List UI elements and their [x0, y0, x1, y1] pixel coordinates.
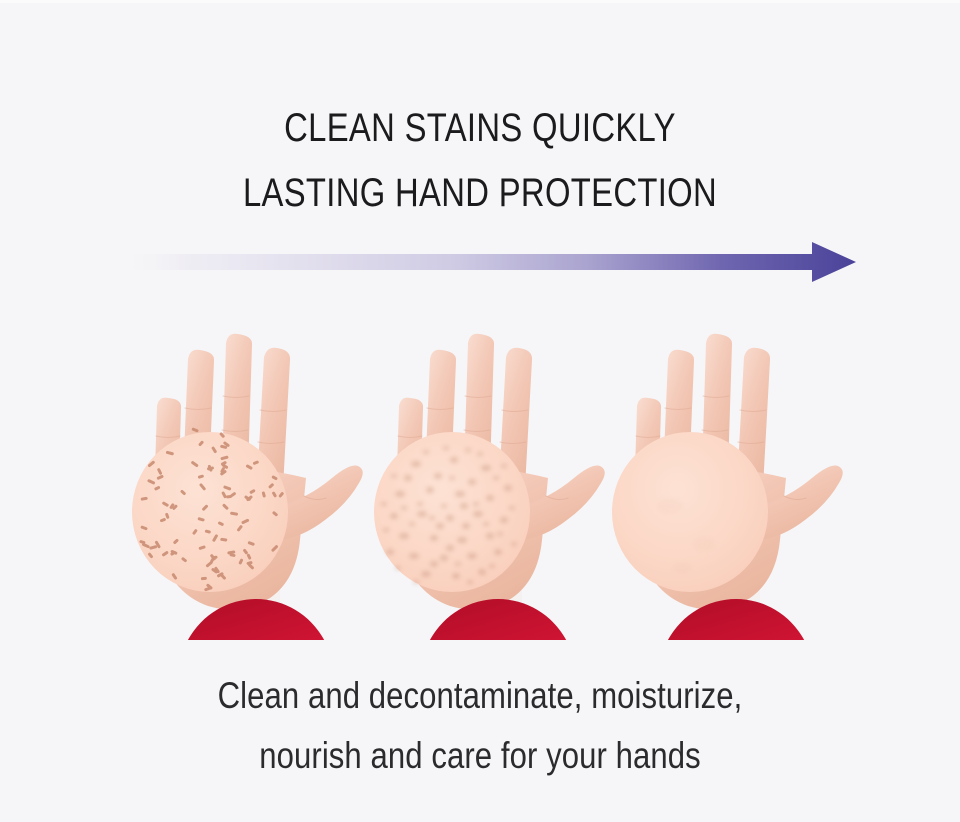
headline-line-1: CLEAN STAINS QUICKLY: [86, 96, 873, 161]
hand-stage-3: [588, 300, 888, 640]
magnifier-lens: [612, 432, 814, 640]
progress-arrow: [0, 240, 960, 284]
page-caption: Clean and decontaminate, moisturize, nou…: [77, 666, 883, 786]
headline-line-2: LASTING HAND PROTECTION: [86, 161, 873, 226]
caption-line-1: Clean and decontaminate, moisturize,: [77, 666, 883, 726]
magnifier-lens: [132, 427, 334, 640]
caption-line-2: nourish and care for your hands: [77, 726, 883, 786]
magnifier-lens: [374, 432, 576, 640]
top-edge-strip: [0, 0, 960, 3]
hands-illustration-row: [0, 300, 960, 640]
page-headline: CLEAN STAINS QUICKLY LASTING HAND PROTEC…: [86, 96, 873, 226]
hand-illustration: [588, 300, 888, 640]
progress-arrow-icon: [0, 240, 960, 284]
